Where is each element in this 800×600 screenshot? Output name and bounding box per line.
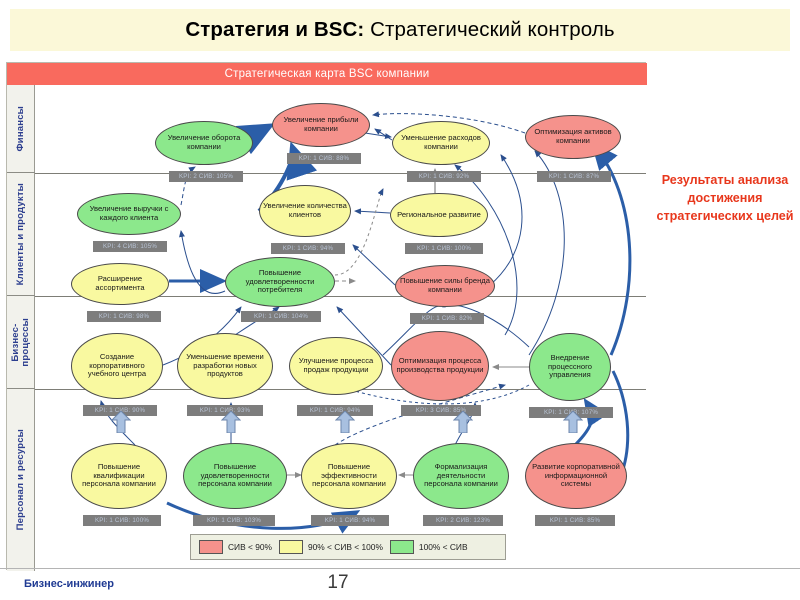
- influence-arrow-icon: [221, 411, 241, 433]
- strategy-node-label: Повышение квалификации персонала компани…: [75, 463, 163, 489]
- strategy-node-label: Уменьшение времени разработки новых прод…: [181, 353, 269, 379]
- strategy-node-label: Повышение силы бренда компании: [399, 277, 491, 295]
- legend-swatch: [390, 540, 414, 554]
- strategy-node[interactable]: Повышение квалификации персонала компани…: [71, 443, 167, 509]
- strategy-node[interactable]: Внедрение процессного управления: [529, 333, 611, 401]
- kpi-chip[interactable]: KPI: 1 СИВ: 100%: [405, 243, 483, 254]
- influence-arrow-icon: [335, 411, 355, 433]
- strategy-node[interactable]: Уменьшение времени разработки новых прод…: [177, 333, 273, 399]
- strategy-node-label: Улучшение процесса продаж продукции: [293, 357, 379, 375]
- perspective-label: Финансы: [16, 106, 26, 152]
- perspective-rail: Финансы Клиенты и продукты Бизнес- проце…: [7, 85, 35, 571]
- page-title: Стратегия и BSC: Стратегический контроль: [185, 18, 614, 42]
- kpi-chip[interactable]: KPI: 2 СИВ: 123%: [423, 515, 503, 526]
- strategy-node-label: Внедрение процессного управления: [533, 354, 607, 380]
- strategy-node-label: Повышение удовлетворенности персонала ко…: [187, 463, 283, 489]
- legend-item: 90% < СИВ < 100%: [279, 540, 383, 554]
- kpi-chip[interactable]: KPI: 4 СИВ: 105%: [93, 241, 167, 252]
- perspective-label: Бизнес- процессы: [11, 318, 31, 367]
- kpi-chip[interactable]: KPI: 1 СИВ: 85%: [535, 515, 615, 526]
- kpi-chip[interactable]: KPI: 2 СИВ: 105%: [169, 171, 243, 182]
- strategy-node[interactable]: Развитие корпоративной информационной си…: [525, 443, 627, 509]
- legend: СИВ < 90%90% < СИВ < 100%100% < СИВ: [190, 534, 506, 560]
- strategy-node-label: Увеличение оборота компании: [159, 134, 249, 152]
- kpi-chip[interactable]: KPI: 1 СИВ: 87%: [537, 171, 611, 182]
- kpi-chip[interactable]: KPI: 1 СИВ: 88%: [287, 153, 361, 164]
- legend-swatch: [199, 540, 223, 554]
- perspective-staff-resources: Персонал и ресурсы: [7, 389, 35, 571]
- page-title-bold: Стратегия и BSC:: [185, 18, 364, 41]
- kpi-chip[interactable]: KPI: 1 СИВ: 100%: [83, 515, 161, 526]
- strategy-node-label: Региональное развитие: [397, 211, 481, 220]
- strategy-node[interactable]: Формализация деятельности персонала комп…: [413, 443, 509, 509]
- strategy-node-label: Увеличение прибыли компании: [276, 116, 366, 134]
- kpi-chip[interactable]: KPI: 1 СИВ: 104%: [241, 311, 321, 322]
- perspective-clients-products: Клиенты и продукты: [7, 173, 35, 296]
- strategy-node-label: Оптимизация активов компании: [529, 128, 617, 146]
- strategy-node[interactable]: Уменьшение расходов компании: [392, 121, 490, 165]
- strategy-node-label: Повышение удовлетворенности потребителя: [229, 269, 331, 295]
- perspective-label: Персонал и ресурсы: [16, 429, 26, 530]
- strategy-node-label: Уменьшение расходов компании: [396, 134, 486, 152]
- influence-arrow-icon: [111, 411, 131, 433]
- strategy-node-label: Увеличение количества клиентов: [263, 202, 347, 220]
- page-title-rest: Стратегический контроль: [364, 18, 614, 41]
- strategy-node[interactable]: Увеличение выручки с каждого клиента: [77, 193, 181, 235]
- kpi-chip[interactable]: KPI: 1 СИВ: 103%: [193, 515, 275, 526]
- strategy-node-label: Увеличение выручки с каждого клиента: [81, 205, 177, 223]
- strategy-node[interactable]: Создание корпоративного учебного центра: [71, 333, 163, 399]
- strategy-node[interactable]: Оптимизация активов компании: [525, 115, 621, 159]
- strategy-node[interactable]: Увеличение прибыли компании: [272, 103, 370, 147]
- strategy-node-label: Повышение эффективности персонала компан…: [305, 463, 393, 489]
- strategy-node[interactable]: Увеличение количества клиентов: [259, 185, 351, 237]
- analysis-results-note: Результаты анализа достижения стратегиче…: [652, 172, 798, 226]
- strategy-node-label: Развитие корпоративной информационной си…: [529, 463, 623, 489]
- strategy-map-header: Стратегическая карта BSC компании: [7, 63, 647, 85]
- strategy-node[interactable]: Улучшение процесса продаж продукции: [289, 337, 383, 395]
- strategy-node[interactable]: Повышение силы бренда компании: [395, 265, 495, 307]
- legend-label: 100% < СИВ: [419, 542, 468, 552]
- kpi-chip[interactable]: KPI: 1 СИВ: 94%: [311, 515, 389, 526]
- strategy-node-label: Формализация деятельности персонала комп…: [417, 463, 505, 489]
- page-number: 17: [318, 572, 358, 594]
- perspective-finance: Финансы: [7, 85, 35, 173]
- strategy-map-header-label: Стратегическая карта BSC компании: [225, 68, 430, 80]
- strategy-node[interactable]: Повышение эффективности персонала компан…: [301, 443, 397, 509]
- perspective-label: Клиенты и продукты: [16, 183, 26, 285]
- kpi-chip[interactable]: KPI: 1 СИВ: 82%: [410, 313, 484, 324]
- slide-canvas: Стратегия и BSC: Стратегический контроль…: [0, 0, 800, 600]
- strategy-node-label: Расширение ассортимента: [75, 275, 165, 293]
- slide-title-banner: Стратегия и BSC: Стратегический контроль: [10, 9, 790, 51]
- strategy-map-frame: Стратегическая карта BSC компании Финанс…: [6, 62, 646, 570]
- strategy-map-canvas: Увеличение оборота компанииKPI: 2 СИВ: 1…: [35, 85, 646, 571]
- legend-label: 90% < СИВ < 100%: [308, 542, 383, 552]
- legend-item: СИВ < 90%: [199, 540, 272, 554]
- legend-item: 100% < СИВ: [390, 540, 468, 554]
- strategy-node-label: Создание корпоративного учебного центра: [75, 353, 159, 379]
- strategy-node[interactable]: Расширение ассортимента: [71, 263, 169, 305]
- influence-arrow-icon: [563, 411, 583, 433]
- strategy-node[interactable]: Увеличение оборота компании: [155, 121, 253, 165]
- legend-swatch: [279, 540, 303, 554]
- kpi-chip[interactable]: KPI: 1 СИВ: 92%: [407, 171, 481, 182]
- strategy-node-label: Оптимизация процесса производства продук…: [395, 357, 485, 375]
- legend-label: СИВ < 90%: [228, 542, 272, 552]
- strategy-node[interactable]: Региональное развитие: [390, 193, 488, 237]
- kpi-chip[interactable]: KPI: 1 СИВ: 98%: [87, 311, 161, 322]
- strategy-node[interactable]: Повышение удовлетворенности персонала ко…: [183, 443, 287, 509]
- footer-divider: [0, 568, 800, 569]
- strategy-node[interactable]: Повышение удовлетворенности потребителя: [225, 257, 335, 307]
- kpi-chip[interactable]: KPI: 1 СИВ: 94%: [271, 243, 345, 254]
- perspective-business-processes: Бизнес- процессы: [7, 296, 35, 389]
- influence-arrow-icon: [453, 411, 473, 433]
- footer-brand: Бизнес-инжинер: [24, 578, 114, 590]
- strategy-node[interactable]: Оптимизация процесса производства продук…: [391, 331, 489, 401]
